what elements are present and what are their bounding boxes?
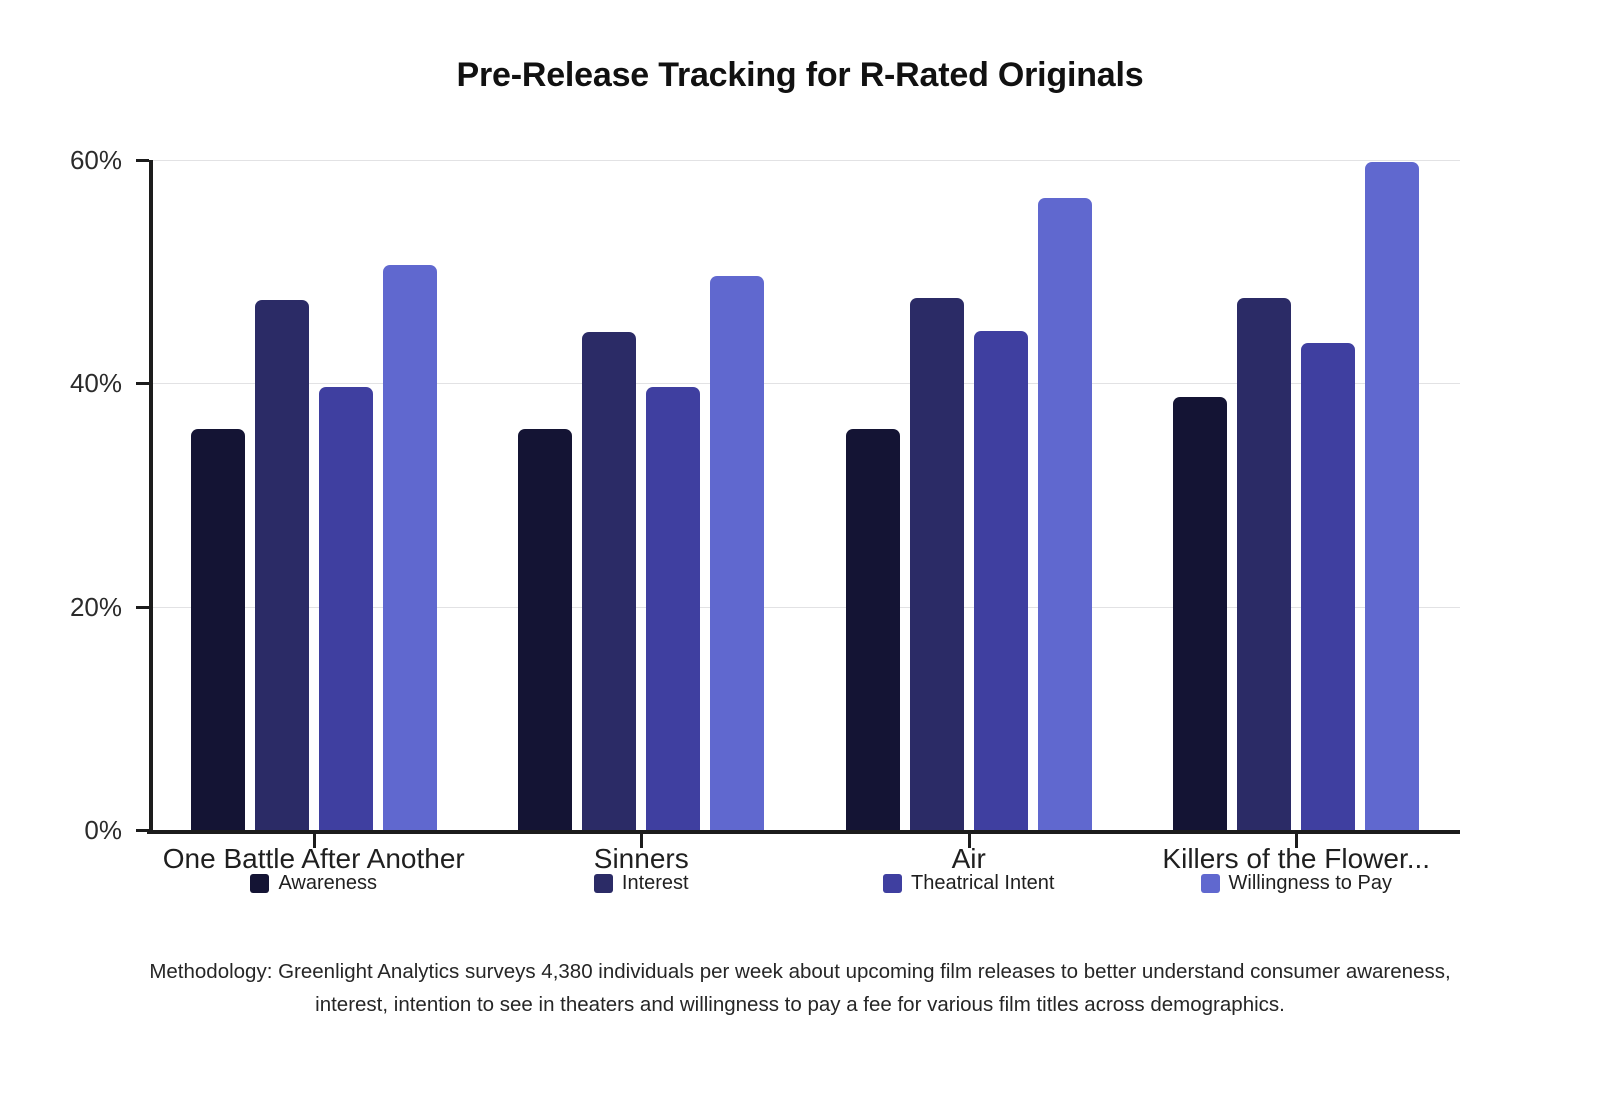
bar[interactable] — [910, 298, 964, 830]
legend-item[interactable]: Interest — [594, 872, 689, 895]
footnote-line-2: interest, intention to see in theaters a… — [110, 988, 1490, 1021]
bar[interactable] — [518, 429, 572, 830]
methodology-footnote: Methodology: Greenlight Analytics survey… — [110, 955, 1490, 1021]
x-axis-tick-label: One Battle After Another — [163, 843, 465, 875]
legend-item-wrapper: Willingness to Pay — [1133, 872, 1461, 895]
bar[interactable] — [582, 332, 636, 830]
legend-item-wrapper: Awareness — [150, 872, 478, 895]
legend-label: Awareness — [278, 872, 377, 895]
bar[interactable] — [1365, 162, 1419, 830]
y-axis-tick-label: 40% — [2, 368, 122, 399]
bar[interactable] — [1038, 198, 1092, 830]
legend-label: Interest — [622, 872, 689, 895]
y-axis-tick-mark — [136, 382, 149, 385]
legend-item[interactable]: Awareness — [250, 872, 377, 895]
bar[interactable] — [383, 265, 437, 830]
bar[interactable] — [846, 429, 900, 830]
legend-swatch-icon — [883, 874, 902, 893]
footnote-line-1: Methodology: Greenlight Analytics survey… — [110, 955, 1490, 988]
legend: AwarenessInterestTheatrical IntentWillin… — [150, 872, 1460, 895]
legend-label: Willingness to Pay — [1229, 872, 1392, 895]
y-axis-tick-label: 60% — [2, 145, 122, 176]
legend-item-wrapper: Interest — [478, 872, 806, 895]
legend-swatch-icon — [594, 874, 613, 893]
bar[interactable] — [646, 387, 700, 830]
legend-swatch-icon — [250, 874, 269, 893]
bars-layer — [150, 160, 1460, 830]
x-axis-line — [147, 830, 1460, 834]
bar[interactable] — [1173, 397, 1227, 830]
bar[interactable] — [191, 429, 245, 830]
chart-title: Pre-Release Tracking for R-Rated Origina… — [0, 56, 1600, 95]
y-axis-tick-mark — [136, 606, 149, 609]
x-axis-tick-label: Sinners — [594, 843, 689, 875]
y-axis-tick-mark — [136, 829, 149, 832]
bar[interactable] — [1301, 343, 1355, 830]
legend-swatch-icon — [1201, 874, 1220, 893]
legend-item-wrapper: Theatrical Intent — [805, 872, 1133, 895]
x-axis-tick-label: Killers of the Flower... — [1162, 843, 1430, 875]
legend-item[interactable]: Willingness to Pay — [1201, 872, 1392, 895]
bar[interactable] — [710, 276, 764, 830]
bar[interactable] — [255, 300, 309, 830]
bar[interactable] — [319, 387, 373, 830]
chart-container: Pre-Release Tracking for R-Rated Origina… — [0, 0, 1600, 1102]
legend-label: Theatrical Intent — [911, 872, 1054, 895]
x-axis-tick-label: Air — [952, 843, 986, 875]
y-axis-tick-label: 0% — [2, 815, 122, 846]
y-axis-tick-label: 20% — [2, 592, 122, 623]
bar[interactable] — [1237, 298, 1291, 830]
bar[interactable] — [974, 331, 1028, 830]
legend-item[interactable]: Theatrical Intent — [883, 872, 1054, 895]
y-axis-tick-mark — [136, 159, 149, 162]
